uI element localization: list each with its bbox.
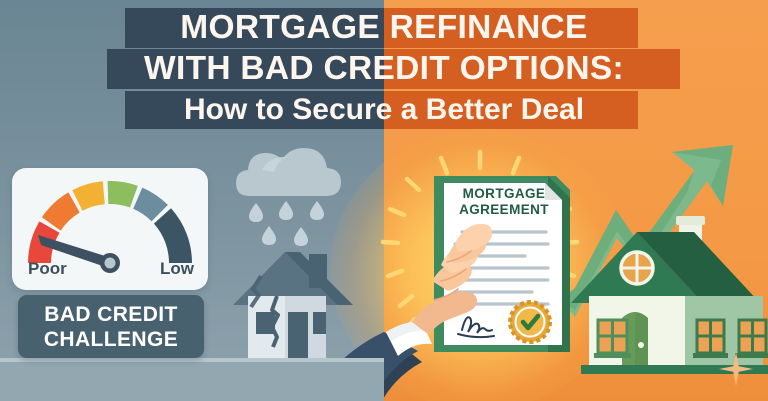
gauge-segments [28, 181, 192, 263]
banner-line-2: CHALLENGE [44, 327, 178, 352]
cracked-house-icon [233, 252, 353, 362]
ground-band-left [0, 360, 384, 401]
document-title-line-1: MORTGAGE [449, 186, 559, 202]
headline-line-1: MORTGAGE REFINANCE [0, 8, 768, 48]
gauge-label-poor: Poor [28, 259, 67, 279]
gauge-label-low: Low [160, 259, 194, 279]
house-window-left [594, 320, 631, 358]
gauge-segment-average [72, 181, 105, 210]
bad-credit-challenge-banner: BAD CREDIT CHALLENGE [18, 295, 204, 358]
headline-line-3-text: How to Secure a Better Deal [184, 93, 584, 126]
headline: MORTGAGE REFINANCE WITH BAD CREDIT OPTIO… [0, 8, 768, 129]
banner-line-1: BAD CREDIT [44, 302, 178, 327]
gauge-segment-fair [42, 192, 80, 230]
document-title-line-2: AGREEMENT [449, 202, 559, 218]
headline-line-1-text: MORTGAGE REFINANCE [180, 9, 587, 46]
raindrops [249, 201, 324, 246]
rain-cloud-icon [236, 148, 341, 196]
headline-line-2-text: WITH BAD CREDIT OPTIONS: [144, 50, 624, 87]
headline-line-2: WITH BAD CREDIT OPTIONS: [0, 49, 768, 89]
document-title: MORTGAGE AGREEMENT [449, 186, 559, 217]
ground-edge-left [0, 358, 384, 362]
hero-banner-canvas: Poor Low BAD CREDIT CHALLENGE MORTGAGE A… [0, 0, 768, 401]
gauge-segment-good [108, 181, 138, 208]
approved-seal-checkmark-icon [510, 302, 550, 342]
headline-line-3: How to Secure a Better Deal [0, 91, 768, 129]
sparkle-star-icon [719, 352, 753, 386]
gauge-segment-excellent [154, 208, 192, 263]
